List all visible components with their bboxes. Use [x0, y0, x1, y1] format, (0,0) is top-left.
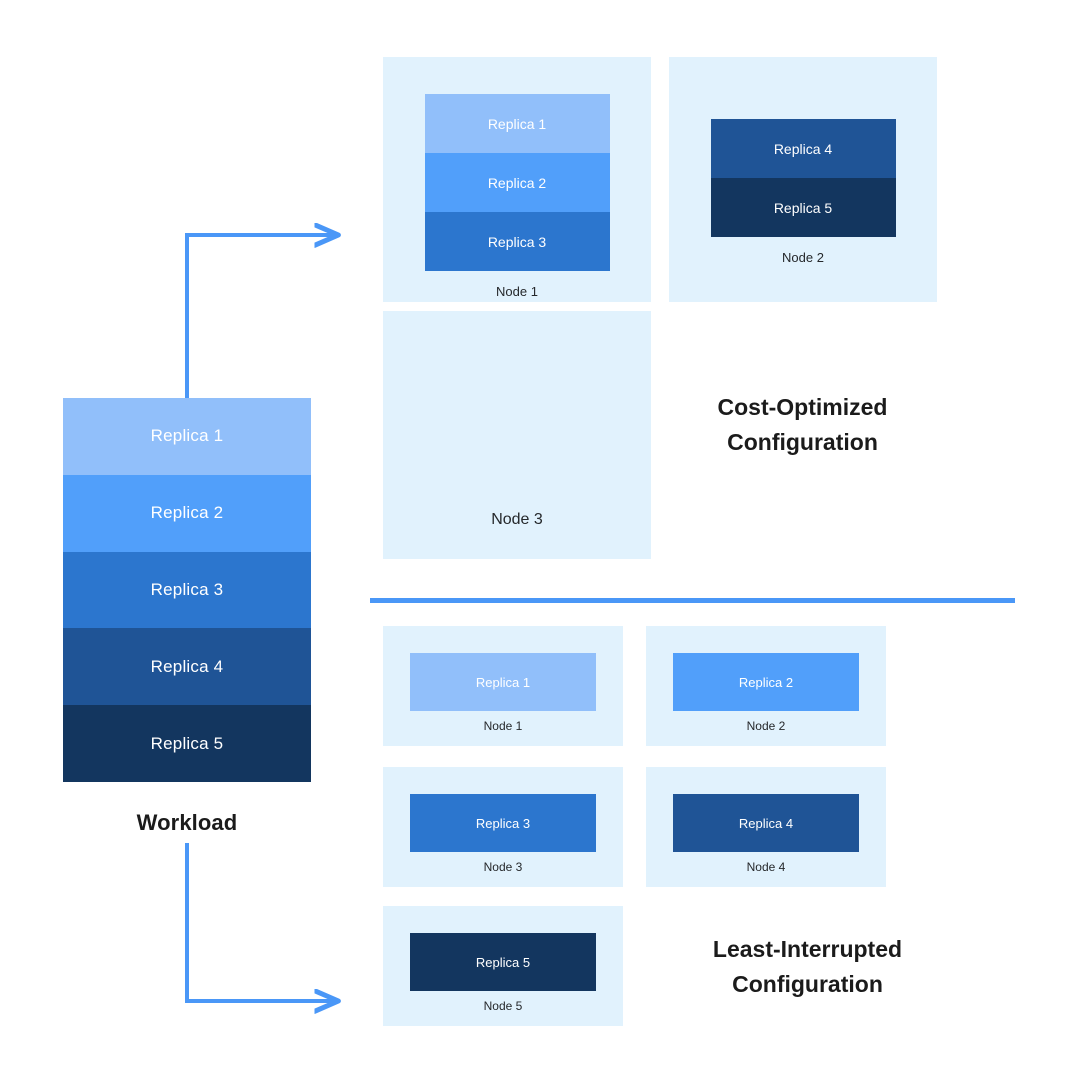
workload-caption: Workload — [63, 810, 311, 836]
node-least-1-replicas: Replica 1 — [410, 653, 596, 711]
workload-replica-1-label: Replica 1 — [151, 426, 224, 446]
replica-label: Replica 3 — [488, 234, 546, 250]
replica-label: Replica 1 — [488, 116, 546, 132]
node-cost-1-label: Node 1 — [383, 284, 651, 299]
node-cost-1-replica-3: Replica 3 — [425, 212, 610, 271]
node-least-3-replica-3: Replica 3 — [410, 794, 596, 852]
cost-optimized-caption-line-2: Configuration — [660, 425, 945, 460]
workload-replica-3: Replica 3 — [63, 552, 311, 629]
node-least-1-label: Node 1 — [383, 719, 623, 733]
cost-optimized-caption-line-1: Cost-Optimized — [660, 390, 945, 425]
least-interrupted-caption-line-1: Least-Interrupted — [665, 932, 950, 967]
least-interrupted-caption: Least-Interrupted Configuration — [665, 932, 950, 1002]
replica-label: Replica 5 — [774, 200, 832, 216]
node-cost-2-replica-4: Replica 4 — [711, 119, 896, 178]
node-least-5: Replica 5 Node 5 — [383, 906, 623, 1026]
replica-label: Replica 1 — [476, 675, 530, 690]
replica-label: Replica 5 — [476, 955, 530, 970]
node-cost-1-replicas: Replica 1 Replica 2 Replica 3 — [425, 94, 610, 271]
node-cost-2-label: Node 2 — [669, 250, 937, 265]
node-cost-3: Node 3 — [383, 311, 651, 559]
section-divider — [370, 598, 1015, 603]
workload-replica-5: Replica 5 — [63, 705, 311, 782]
node-cost-3-label: Node 3 — [383, 511, 651, 529]
least-interrupted-caption-line-2: Configuration — [665, 967, 950, 1002]
workload-replica-4-label: Replica 4 — [151, 657, 224, 677]
replica-label: Replica 4 — [739, 816, 793, 831]
node-least-4-replica-4: Replica 4 — [673, 794, 859, 852]
node-least-1: Replica 1 Node 1 — [383, 626, 623, 746]
node-least-5-label: Node 5 — [383, 999, 623, 1013]
arrow-to-cost-optimized — [187, 235, 336, 398]
node-cost-2-replica-5: Replica 5 — [711, 178, 896, 237]
replica-label: Replica 2 — [488, 175, 546, 191]
node-cost-1: Replica 1 Replica 2 Replica 3 Node 1 — [383, 57, 651, 302]
workload-replica-4: Replica 4 — [63, 628, 311, 705]
workload-replica-2: Replica 2 — [63, 475, 311, 552]
node-least-2-label: Node 2 — [646, 719, 886, 733]
node-cost-1-replica-2: Replica 2 — [425, 153, 610, 212]
node-least-4-label: Node 4 — [646, 860, 886, 874]
node-least-4-replicas: Replica 4 — [673, 794, 859, 852]
diagram-canvas: Replica 1 Replica 2 Replica 3 Replica 4 … — [0, 0, 1080, 1080]
replica-label: Replica 2 — [739, 675, 793, 690]
node-least-4: Replica 4 Node 4 — [646, 767, 886, 887]
cost-optimized-caption: Cost-Optimized Configuration — [660, 390, 945, 460]
node-cost-1-replica-1: Replica 1 — [425, 94, 610, 153]
node-least-2: Replica 2 Node 2 — [646, 626, 886, 746]
workload-replica-2-label: Replica 2 — [151, 503, 224, 523]
node-least-3-replicas: Replica 3 — [410, 794, 596, 852]
replica-label: Replica 3 — [476, 816, 530, 831]
workload-stack: Replica 1 Replica 2 Replica 3 Replica 4 … — [63, 398, 311, 782]
node-least-2-replica-2: Replica 2 — [673, 653, 859, 711]
workload-replica-3-label: Replica 3 — [151, 580, 224, 600]
node-least-3-label: Node 3 — [383, 860, 623, 874]
node-cost-2: Replica 4 Replica 5 Node 2 — [669, 57, 937, 302]
node-cost-2-replicas: Replica 4 Replica 5 — [711, 119, 896, 237]
workload-replica-1: Replica 1 — [63, 398, 311, 475]
node-least-2-replicas: Replica 2 — [673, 653, 859, 711]
arrow-to-least-interrupted — [187, 843, 336, 1001]
node-least-1-replica-1: Replica 1 — [410, 653, 596, 711]
node-least-5-replicas: Replica 5 — [410, 933, 596, 991]
node-least-5-replica-5: Replica 5 — [410, 933, 596, 991]
replica-label: Replica 4 — [774, 141, 832, 157]
workload-replica-5-label: Replica 5 — [151, 734, 224, 754]
node-least-3: Replica 3 Node 3 — [383, 767, 623, 887]
